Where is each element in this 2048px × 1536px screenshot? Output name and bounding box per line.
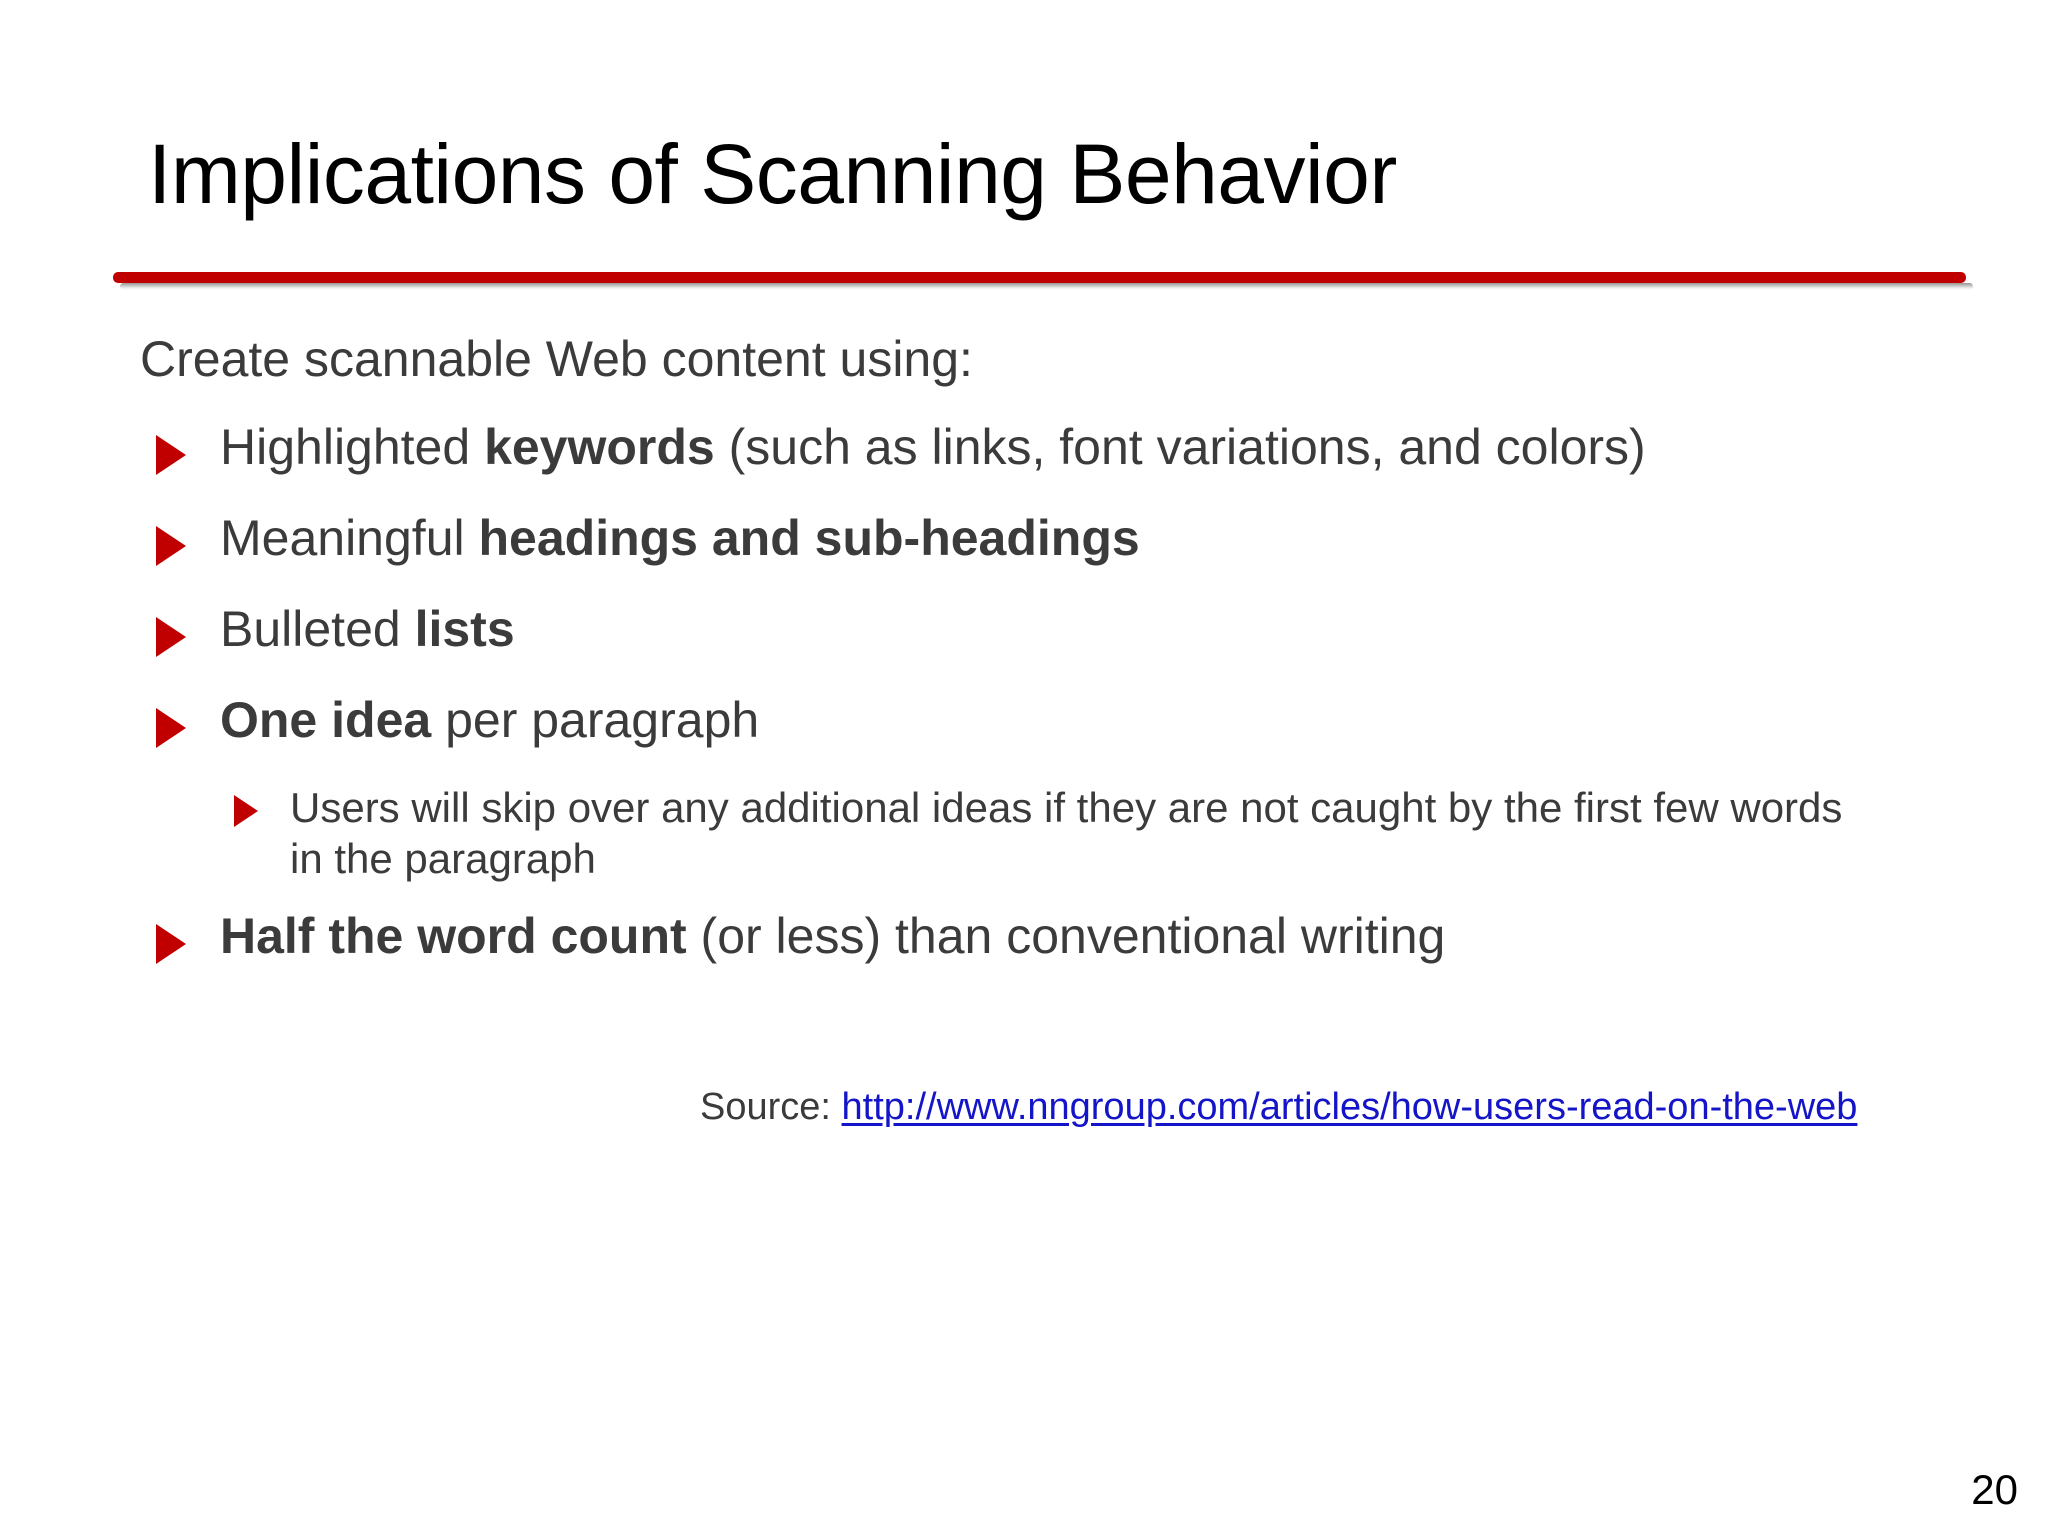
bullet-plain: Highlighted — [220, 419, 484, 475]
source-link[interactable]: http://www.nngroup.com/articles/how-user… — [842, 1086, 1858, 1128]
bullet-emphasis: One idea — [220, 692, 431, 748]
bullet-text: Bulleted lists — [220, 601, 515, 657]
bullet-text: Half the word count (or less) than conve… — [220, 908, 1445, 964]
bullet-text: Meaningful headings and sub-headings — [220, 510, 1140, 566]
divider-shadow — [120, 283, 1973, 290]
intro-text: Create scannable Web content using: — [140, 330, 2048, 389]
bullet-item: Bulleted lists — [148, 599, 2048, 669]
bullet-item: Highlighted keywords (such as links, fon… — [148, 417, 2048, 487]
triangle-bullet-icon — [156, 924, 186, 964]
bullet-emphasis: Half the word count — [220, 908, 687, 964]
triangle-bullet-icon — [156, 435, 186, 475]
bullet-emphasis: lists — [415, 601, 515, 657]
bullet-plain: per paragraph — [431, 692, 759, 748]
bullet-emphasis: keywords — [484, 419, 715, 475]
bullet-plain: (such as links, font variations, and col… — [715, 419, 1646, 475]
triangle-bullet-icon — [234, 795, 258, 827]
bullet-emphasis: headings and sub-headings — [479, 510, 1140, 566]
bullet-plain: Meaningful — [220, 510, 479, 566]
bullet-item: One idea per paragraph — [148, 690, 2048, 760]
bullet-item: Half the word count (or less) than conve… — [148, 906, 2048, 976]
divider-red-bar — [113, 272, 1966, 283]
page-number: 20 — [1971, 1466, 2018, 1514]
sub-bullet-item: Users will skip over any additional idea… — [228, 782, 1868, 884]
bullet-plain: Users will skip over any additional idea… — [290, 784, 1842, 882]
bullet-plain: (or less) than conventional writing — [687, 908, 1446, 964]
title-divider — [113, 272, 1966, 294]
triangle-bullet-icon — [156, 617, 186, 657]
bullet-item: Meaningful headings and sub-headings — [148, 508, 2048, 578]
bullet-text: Users will skip over any additional idea… — [290, 784, 1842, 882]
slide-body: Create scannable Web content using: High… — [0, 330, 2048, 997]
bullet-list: Highlighted keywords (such as links, fon… — [0, 417, 2048, 976]
triangle-bullet-icon — [156, 526, 186, 566]
bullet-text: Highlighted keywords (such as links, fon… — [220, 419, 1646, 475]
slide-canvas: Implications of Scanning Behavior Create… — [0, 0, 2048, 1536]
triangle-bullet-icon — [156, 708, 186, 748]
page-title: Implications of Scanning Behavior — [148, 130, 1948, 218]
bullet-text: One idea per paragraph — [220, 692, 759, 748]
source-label: Source: — [700, 1086, 842, 1128]
source-citation: Source: http://www.nngroup.com/articles/… — [700, 1085, 1857, 1131]
bullet-plain: Bulleted — [220, 601, 415, 657]
